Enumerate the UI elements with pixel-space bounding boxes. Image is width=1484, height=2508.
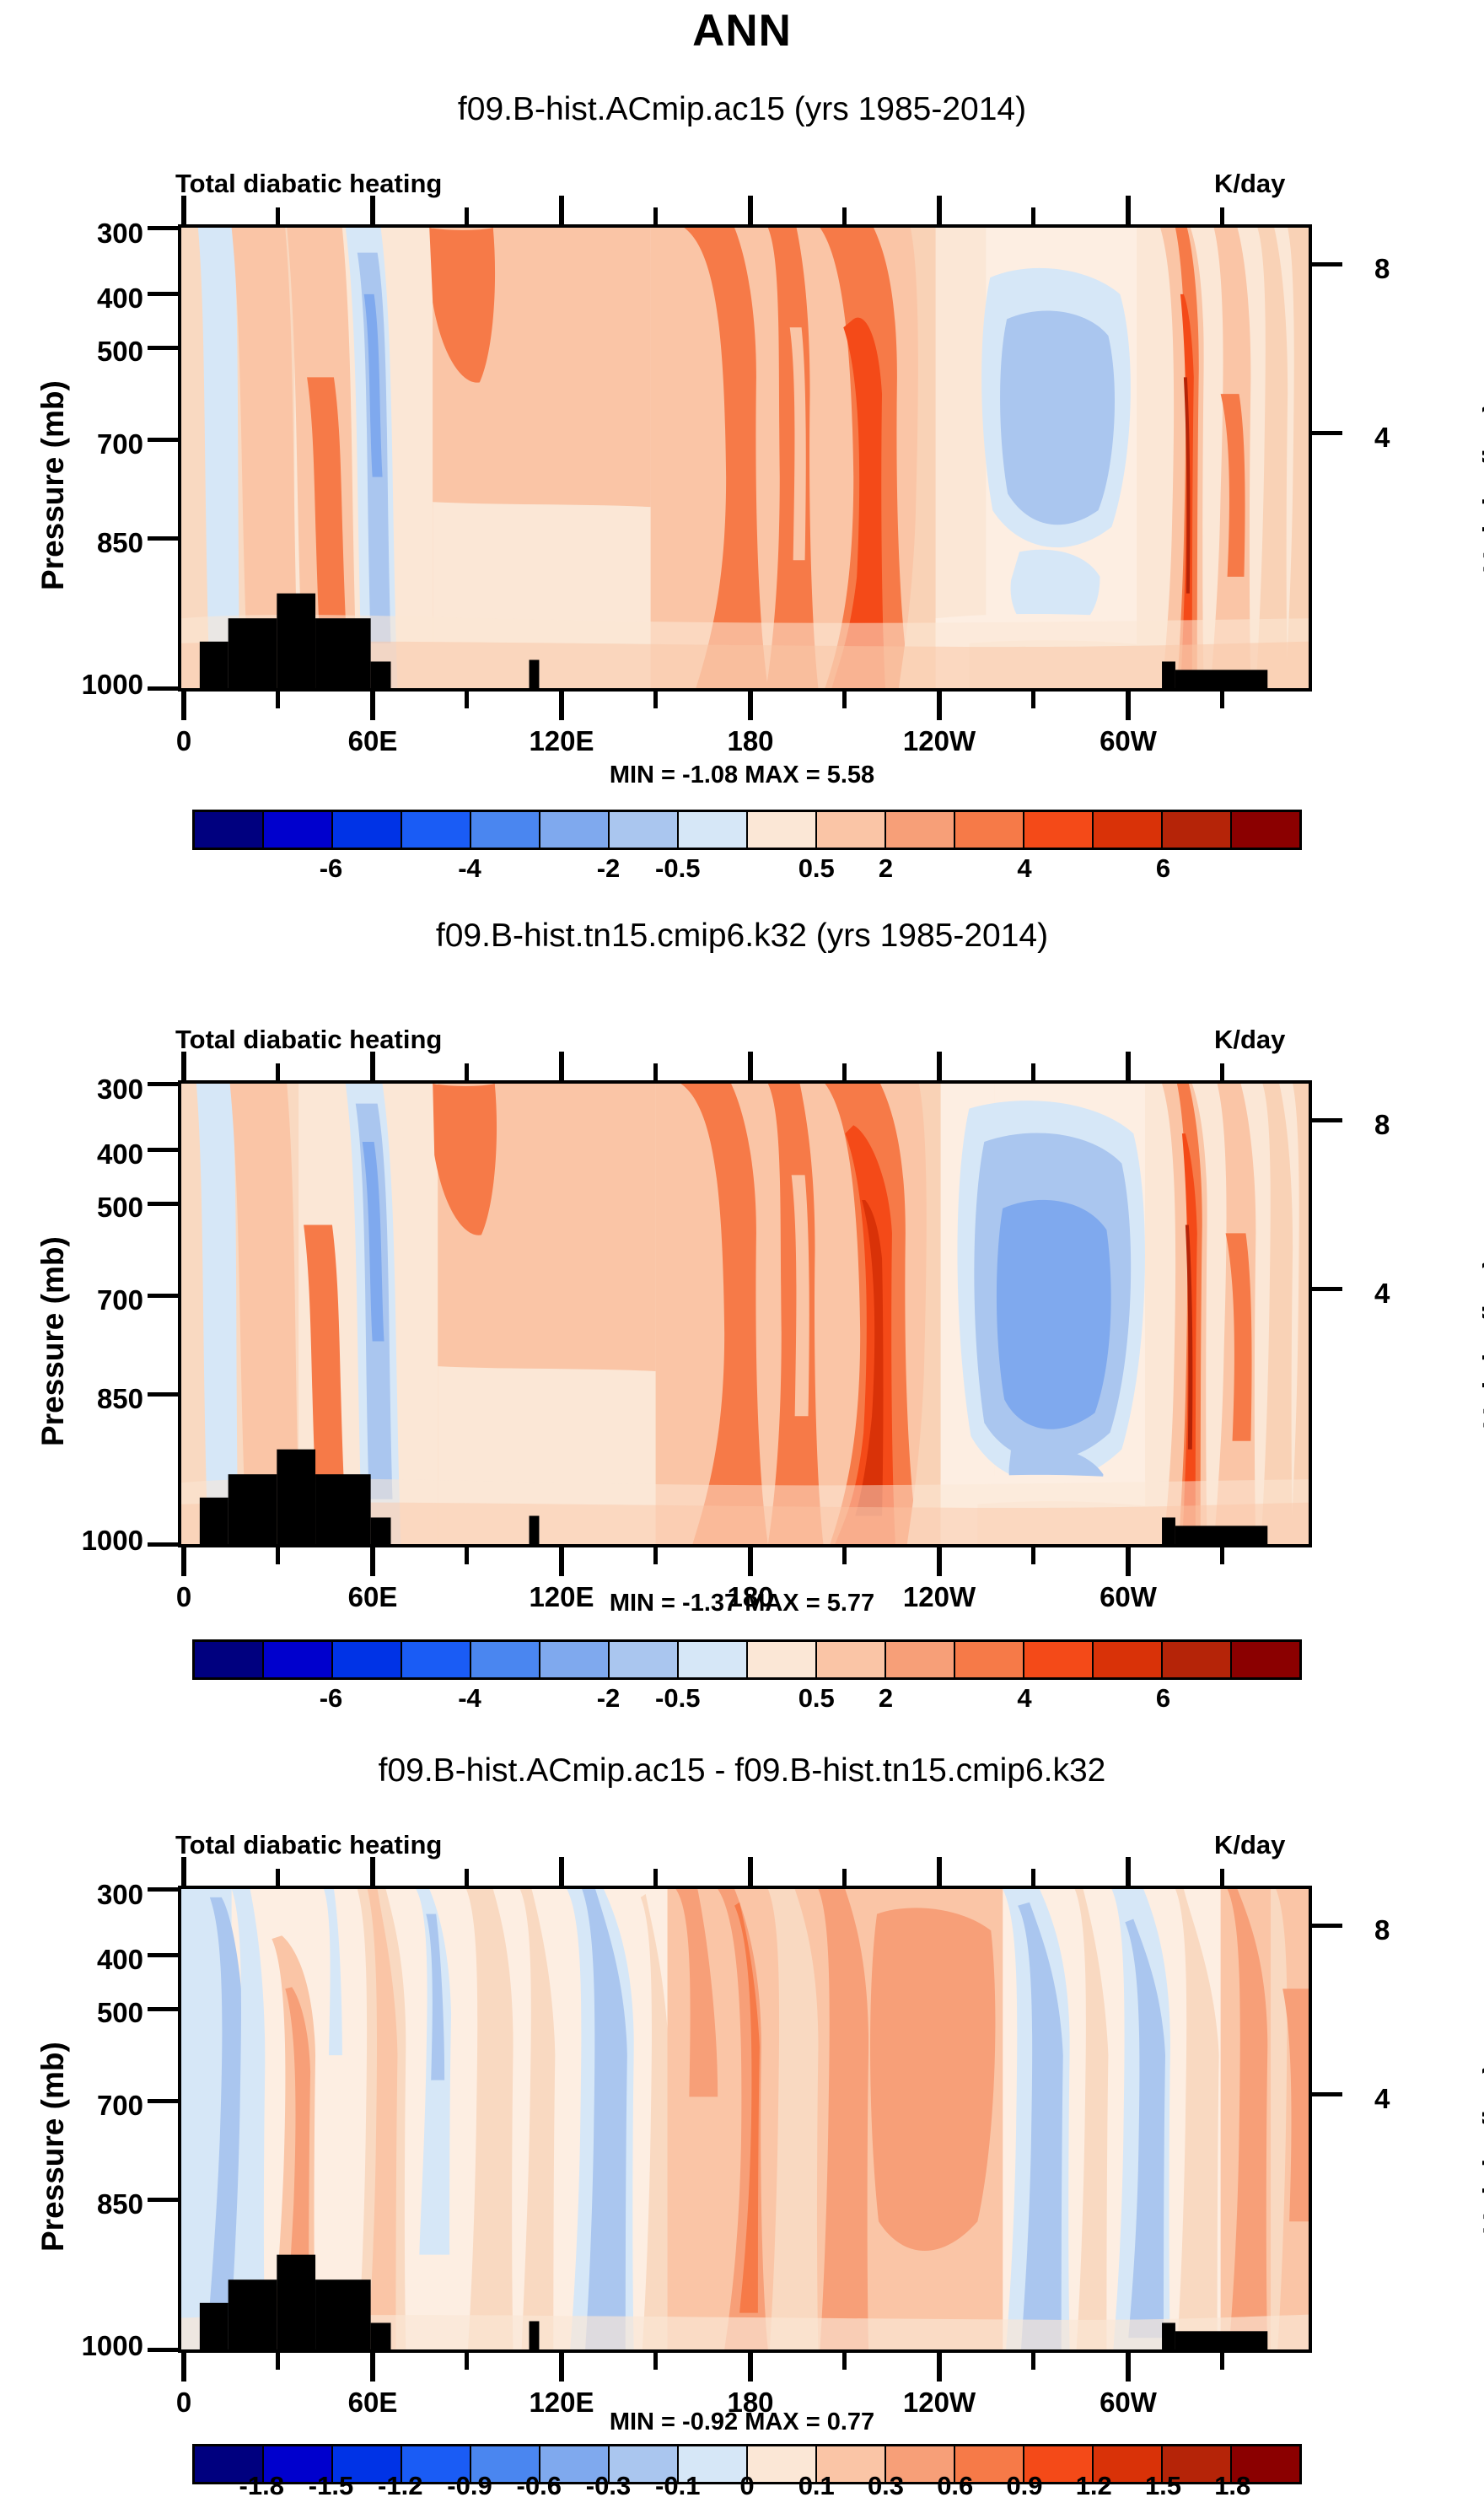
panel-2-contour-field (181, 1084, 1309, 1544)
panel-1-bottom-tick (748, 692, 753, 720)
colorbar-tick-label: 0.5 (798, 1683, 835, 1714)
colorbar-cell (1024, 812, 1094, 848)
panel-1-bottom-tick (1220, 692, 1224, 708)
panel-2-top-tick (842, 1063, 847, 1080)
panel-2-ytick-1000: 1000 (17, 1525, 143, 1557)
panel-1-top-tick (1031, 207, 1035, 224)
panel-1-top-tick (1220, 207, 1224, 224)
panel-3-bottom-tick (370, 2353, 375, 2382)
panel-2-left-tick (148, 1392, 180, 1397)
colorbar-cell (540, 1642, 610, 1677)
panel-2-minmax: MIN = -1.37 MAX = 5.77 (0, 1590, 1484, 1617)
panel-1-bottom-tick (276, 692, 280, 708)
panel-3-left-tick (148, 2099, 180, 2103)
colorbar-cell (748, 1642, 817, 1677)
panel-3-left-tick (148, 2198, 180, 2202)
panel-1-right-tick (1310, 431, 1342, 435)
panel-1-rtick-4: 4 (1374, 422, 1390, 454)
panel-2-top-tick (937, 1052, 942, 1080)
panel-3-right-axis-title: Height (km) (1477, 2064, 1484, 2236)
panel-3-left-tick (148, 2007, 180, 2011)
panel-2-top-tick (559, 1052, 564, 1080)
colorbar-cell (402, 1642, 471, 1677)
colorbar-cell (679, 812, 748, 848)
panel-1-top-tick (1126, 196, 1131, 224)
colorbar-tick-label: 0.6 (937, 2471, 973, 2501)
panel-3-bottom-tick (1031, 2353, 1035, 2370)
panel-2-bottom-tick (842, 1547, 847, 1564)
panel-1-top-tick (937, 196, 942, 224)
panel-1-plot[interactable] (178, 224, 1312, 692)
panel-1-right-axis-title: Height (km) (1477, 402, 1484, 574)
colorbar-tick-label: -0.3 (586, 2471, 631, 2501)
colorbar-cell (195, 812, 264, 848)
panel-1-bottom-tick (181, 692, 186, 720)
colorbar-tick-label: -2 (597, 853, 621, 884)
panel-2-ytick-300: 300 (34, 1074, 143, 1106)
panel-1-rtick-8: 8 (1374, 253, 1390, 285)
panel-2-ytick-700: 700 (34, 1284, 143, 1316)
colorbar-tick-label: -0.5 (655, 853, 700, 884)
panel-3-top-tick (842, 1869, 847, 1886)
colorbar-tick-label: 0.3 (868, 2471, 904, 2501)
panel-2-bottom-tick (370, 1547, 375, 1576)
panel-1-ytick-300: 300 (34, 218, 143, 250)
panel-1-left-tick (148, 686, 180, 691)
panel-1-bottom-tick (1126, 692, 1131, 720)
panel-1-bottom-tick (937, 692, 942, 720)
panel-2-rtick-4: 4 (1374, 1278, 1390, 1310)
panel-2-top-tick (1031, 1063, 1035, 1080)
colorbar-cell (886, 812, 955, 848)
panel-2-bottom-tick (748, 1547, 753, 1576)
panel-2-right-axis-title: Height (km) (1477, 1258, 1484, 1430)
panel-2-top-tick (181, 1052, 186, 1080)
panel-2-bottom-tick (181, 1547, 186, 1576)
panel-3-top-tick (559, 1857, 564, 1886)
panel-1-xtick-60W: 60W (1086, 725, 1170, 757)
colorbar-cell (679, 1642, 748, 1677)
panel-1-contour-field (181, 228, 1309, 688)
panel-3-header-right: K/day (1214, 1830, 1285, 1860)
panel-2-colorbar[interactable] (192, 1639, 1302, 1680)
colorbar-tick-label: 1.8 (1214, 2471, 1250, 2501)
panel-2-ytick-400: 400 (34, 1138, 143, 1171)
colorbar-cell (333, 812, 402, 848)
colorbar-tick-label: -1.2 (378, 2471, 422, 2501)
panel-2-left-tick (148, 1082, 180, 1086)
panel-1-colorbar-labels: -6-4-2-0.50.5246 (192, 853, 1302, 887)
panel-3-bottom-tick (465, 2353, 469, 2370)
panel-2-bottom-tick (1220, 1547, 1224, 1564)
panel-3-bottom-tick (559, 2353, 564, 2382)
colorbar-cell (610, 1642, 679, 1677)
panel-2-right-tick (1310, 1118, 1342, 1122)
panel-3-ytick-400: 400 (34, 1944, 143, 1976)
panel-3-bottom-tick (1126, 2353, 1131, 2382)
panel-2-plot[interactable] (178, 1080, 1312, 1547)
panel-2-left-tick (148, 1294, 180, 1298)
colorbar-cell (817, 812, 886, 848)
panel-3-bottom-tick (748, 2353, 753, 2382)
colorbar-cell (402, 812, 471, 848)
colorbar-cell (264, 1642, 333, 1677)
panel-3-bottom-tick (937, 2353, 942, 2382)
panel-3-top-tick (748, 1857, 753, 1886)
panel-3-rtick-8: 8 (1374, 1914, 1390, 1946)
panel-3-bottom-tick (653, 2353, 658, 2370)
colorbar-tick-label: 1.5 (1145, 2471, 1181, 2501)
panel-1-left-tick (148, 438, 180, 442)
panel-3-top-tick (276, 1869, 280, 1886)
colorbar-cell (540, 812, 610, 848)
colorbar-tick-label: 0.1 (798, 2471, 835, 2501)
panel-1-top-tick (465, 207, 469, 224)
colorbar-tick-label: -0.9 (447, 2471, 492, 2501)
panel-1-colorbar[interactable] (192, 810, 1302, 850)
colorbar-tick-label: -0.1 (655, 2471, 700, 2501)
panel-3-left-tick (148, 1887, 180, 1892)
colorbar-cell (264, 812, 333, 848)
panel-2-bottom-tick (276, 1547, 280, 1564)
colorbar-tick-label: -4 (458, 1683, 481, 1714)
panel-1-top-tick (559, 196, 564, 224)
panel-2-rtick-8: 8 (1374, 1109, 1390, 1141)
panel-1-bottom-tick (1031, 692, 1035, 708)
panel-3-ytick-850: 850 (34, 2188, 143, 2220)
panel-3-top-tick (181, 1857, 186, 1886)
panel-1-top-tick (370, 196, 375, 224)
colorbar-cell (195, 1642, 264, 1677)
panel-3-plot[interactable] (178, 1886, 1312, 2353)
colorbar-tick-label: 0 (739, 2471, 754, 2501)
panel-3-top-tick (1031, 1869, 1035, 1886)
panel-1-bottom-tick (842, 692, 847, 708)
colorbar-cell (1024, 1642, 1094, 1677)
panel-1-bottom-tick (370, 692, 375, 720)
colorbar-tick-label: 4 (1017, 1683, 1031, 1714)
panel-1-ytick-1000: 1000 (17, 669, 143, 701)
panel-2-bottom-tick (1031, 1547, 1035, 1564)
panel-3-ytick-300: 300 (34, 1879, 143, 1911)
colorbar-cell (610, 812, 679, 848)
panel-3-bottom-tick (1220, 2353, 1224, 2370)
colorbar-tick-label: -1.8 (239, 2471, 284, 2501)
colorbar-cell (1163, 1642, 1232, 1677)
colorbar-tick-label: -0.6 (517, 2471, 562, 2501)
panel-3-bottom-tick (181, 2353, 186, 2382)
colorbar-tick-label: 1.2 (1076, 2471, 1112, 2501)
panel-2-top-tick (465, 1063, 469, 1080)
panel-1-top-tick (842, 207, 847, 224)
colorbar-cell (955, 812, 1024, 848)
panel-2-ytick-850: 850 (34, 1383, 143, 1415)
panel-1-left-tick (148, 536, 180, 541)
colorbar-tick-label: 2 (879, 1683, 893, 1714)
panel-3-left-tick (148, 1953, 180, 1957)
panel-3-top-tick (937, 1857, 942, 1886)
panel-2-top-tick (1126, 1052, 1131, 1080)
panel-1-minmax: MIN = -1.08 MAX = 5.58 (0, 762, 1484, 789)
panel-1-xtick-120E: 120E (519, 725, 604, 757)
panel-2-ytick-500: 500 (34, 1192, 143, 1224)
colorbar-tick-label: 0.9 (1006, 2471, 1042, 2501)
panel-2-colorbar-labels: -6-4-2-0.50.5246 (192, 1683, 1302, 1717)
panel-3-bottom-tick (276, 2353, 280, 2370)
panel-1-left-tick (148, 346, 180, 350)
panel-2-top-tick (370, 1052, 375, 1080)
panel-3-ytick-1000: 1000 (17, 2330, 143, 2362)
colorbar-cell (333, 1642, 402, 1677)
panel-2-left-tick (148, 1148, 180, 1152)
panel-2-top-tick (653, 1063, 658, 1080)
colorbar-cell (1094, 812, 1163, 848)
panel-3-top-tick (1220, 1869, 1224, 1886)
colorbar-cell (1163, 812, 1232, 848)
colorbar-tick-label: -1.5 (309, 2471, 353, 2501)
panel-1-bottom-tick (465, 692, 469, 708)
panel-3-right-tick (1310, 1924, 1342, 1928)
panel-1-bottom-tick (653, 692, 658, 708)
panel-1-top-tick (276, 207, 280, 224)
panel-3-contour-field (181, 1889, 1309, 2349)
panel-2-bottom-tick (937, 1547, 942, 1576)
panel-2-top-tick (748, 1052, 753, 1080)
panel-2-bottom-tick (653, 1547, 658, 1564)
panel-1-left-tick (148, 226, 180, 230)
panel-1-top-tick (748, 196, 753, 224)
panel-1-ytick-850: 850 (34, 527, 143, 559)
panel-1-xtick-60E: 60E (331, 725, 415, 757)
colorbar-cell (748, 812, 817, 848)
panel-1-ytick-500: 500 (34, 336, 143, 368)
panel-1-xtick-120W: 120W (897, 725, 981, 757)
panel-1-top-tick (181, 196, 186, 224)
panel-1-top-tick (653, 207, 658, 224)
panel-3-header-left: Total diabatic heating (175, 1830, 442, 1860)
colorbar-cell (1232, 812, 1299, 848)
page-title: ANN (0, 5, 1484, 57)
panel-1-header-right: K/day (1214, 169, 1285, 199)
figure-page: ANN f09.B-hist.ACmip.ac15 (yrs 1985-2014… (0, 0, 1484, 2508)
colorbar-tick-label: -6 (320, 1683, 343, 1714)
panel-2-bottom-tick (1126, 1547, 1131, 1576)
panel-1-right-tick (1310, 262, 1342, 266)
colorbar-tick-label: 6 (1156, 1683, 1170, 1714)
panel-2-header-right: K/day (1214, 1025, 1285, 1055)
panel-2-header-left: Total diabatic heating (175, 1025, 442, 1055)
panel-2-top-tick (1220, 1063, 1224, 1080)
panel-3-title: f09.B-hist.ACmip.ac15 - f09.B-hist.tn15.… (0, 1752, 1484, 1790)
panel-2-left-tick (148, 1542, 180, 1547)
panel-3-bottom-tick (842, 2353, 847, 2370)
panel-3-ytick-500: 500 (34, 1997, 143, 2029)
panel-2-bottom-tick (559, 1547, 564, 1576)
panel-3-ytick-700: 700 (34, 2090, 143, 2122)
colorbar-tick-label: -2 (597, 1683, 621, 1714)
panel-3-right-tick (1310, 2092, 1342, 2096)
panel-1-header-left: Total diabatic heating (175, 169, 442, 199)
panel-3-minmax: MIN = -0.92 MAX = 0.77 (0, 2408, 1484, 2436)
panel-2-title: f09.B-hist.tn15.cmip6.k32 (yrs 1985-2014… (0, 918, 1484, 955)
colorbar-cell (886, 1642, 955, 1677)
colorbar-cell (471, 1642, 540, 1677)
panel-1-bottom-tick (559, 692, 564, 720)
colorbar-tick-label: 0.5 (798, 853, 835, 884)
panel-3-colorbar-labels: -1.8-1.5-1.2-0.9-0.6-0.3-0.100.10.30.60.… (192, 2471, 1302, 2505)
panel-2-left-tick (148, 1202, 180, 1206)
panel-3-rtick-4: 4 (1374, 2083, 1390, 2115)
panel-3-left-tick (148, 2348, 180, 2352)
panel-1-ytick-700: 700 (34, 428, 143, 460)
colorbar-cell (471, 812, 540, 848)
panel-3-top-tick (370, 1857, 375, 1886)
panel-2-bottom-tick (465, 1547, 469, 1564)
panel-1-xtick-180: 180 (708, 725, 793, 757)
panel-2-right-tick (1310, 1287, 1342, 1291)
colorbar-tick-label: 2 (879, 853, 893, 884)
colorbar-cell (1232, 1642, 1299, 1677)
panel-1-left-tick (148, 292, 180, 296)
colorbar-cell (955, 1642, 1024, 1677)
colorbar-cell (1094, 1642, 1163, 1677)
panel-3-top-tick (1126, 1857, 1131, 1886)
colorbar-tick-label: 6 (1156, 853, 1170, 884)
colorbar-tick-label: -6 (320, 853, 343, 884)
panel-2-top-tick (276, 1063, 280, 1080)
colorbar-cell (817, 1642, 886, 1677)
colorbar-tick-label: -0.5 (655, 1683, 700, 1714)
panel-1-ytick-400: 400 (34, 283, 143, 315)
colorbar-tick-label: 4 (1017, 853, 1031, 884)
panel-1-title: f09.B-hist.ACmip.ac15 (yrs 1985-2014) (0, 91, 1484, 128)
panel-3-top-tick (465, 1869, 469, 1886)
panel-3-top-tick (653, 1869, 658, 1886)
colorbar-tick-label: -4 (458, 853, 481, 884)
panel-1-xtick-0: 0 (142, 725, 226, 757)
